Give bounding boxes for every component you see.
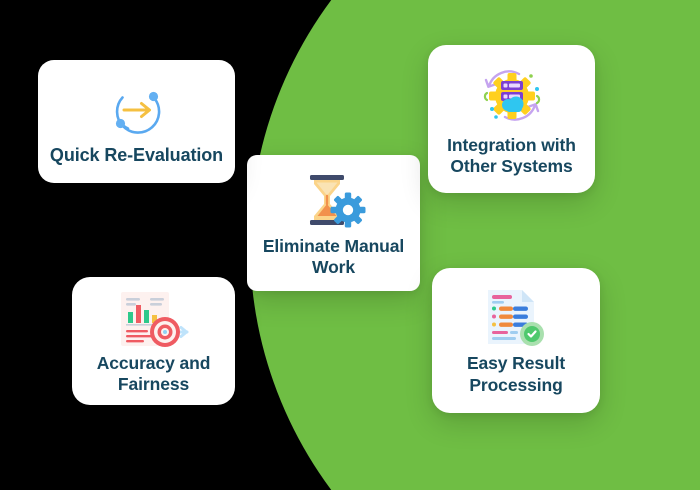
feature-card-accuracy-and-fairness[interactable]: Accuracy and Fairness	[72, 277, 235, 405]
feature-card-label: Quick Re-Evaluation	[50, 145, 223, 167]
feature-card-label: Accuracy and Fairness	[80, 353, 227, 396]
feature-card-label: Eliminate Manual Work	[253, 236, 414, 279]
feature-card-label: Integration with Other Systems	[438, 135, 585, 178]
refresh-arrow-icon	[106, 81, 168, 139]
gear-cloud-server-icon	[475, 63, 549, 129]
hourglass-gear-icon	[300, 170, 368, 230]
document-check-icon	[480, 287, 552, 349]
feature-card-easy-result-processing[interactable]: Easy Result Processing	[432, 268, 600, 413]
report-target-icon	[115, 289, 193, 349]
feature-card-label: Easy Result Processing	[440, 353, 592, 396]
feature-cards-graphic: Quick Re-Evaluation	[0, 0, 700, 490]
feature-card-quick-re-evaluation[interactable]: Quick Re-Evaluation	[38, 60, 235, 183]
feature-card-integration-with-other-systems[interactable]: Integration with Other Systems	[428, 45, 595, 193]
feature-card-eliminate-manual-work[interactable]: Eliminate Manual Work	[247, 155, 420, 291]
